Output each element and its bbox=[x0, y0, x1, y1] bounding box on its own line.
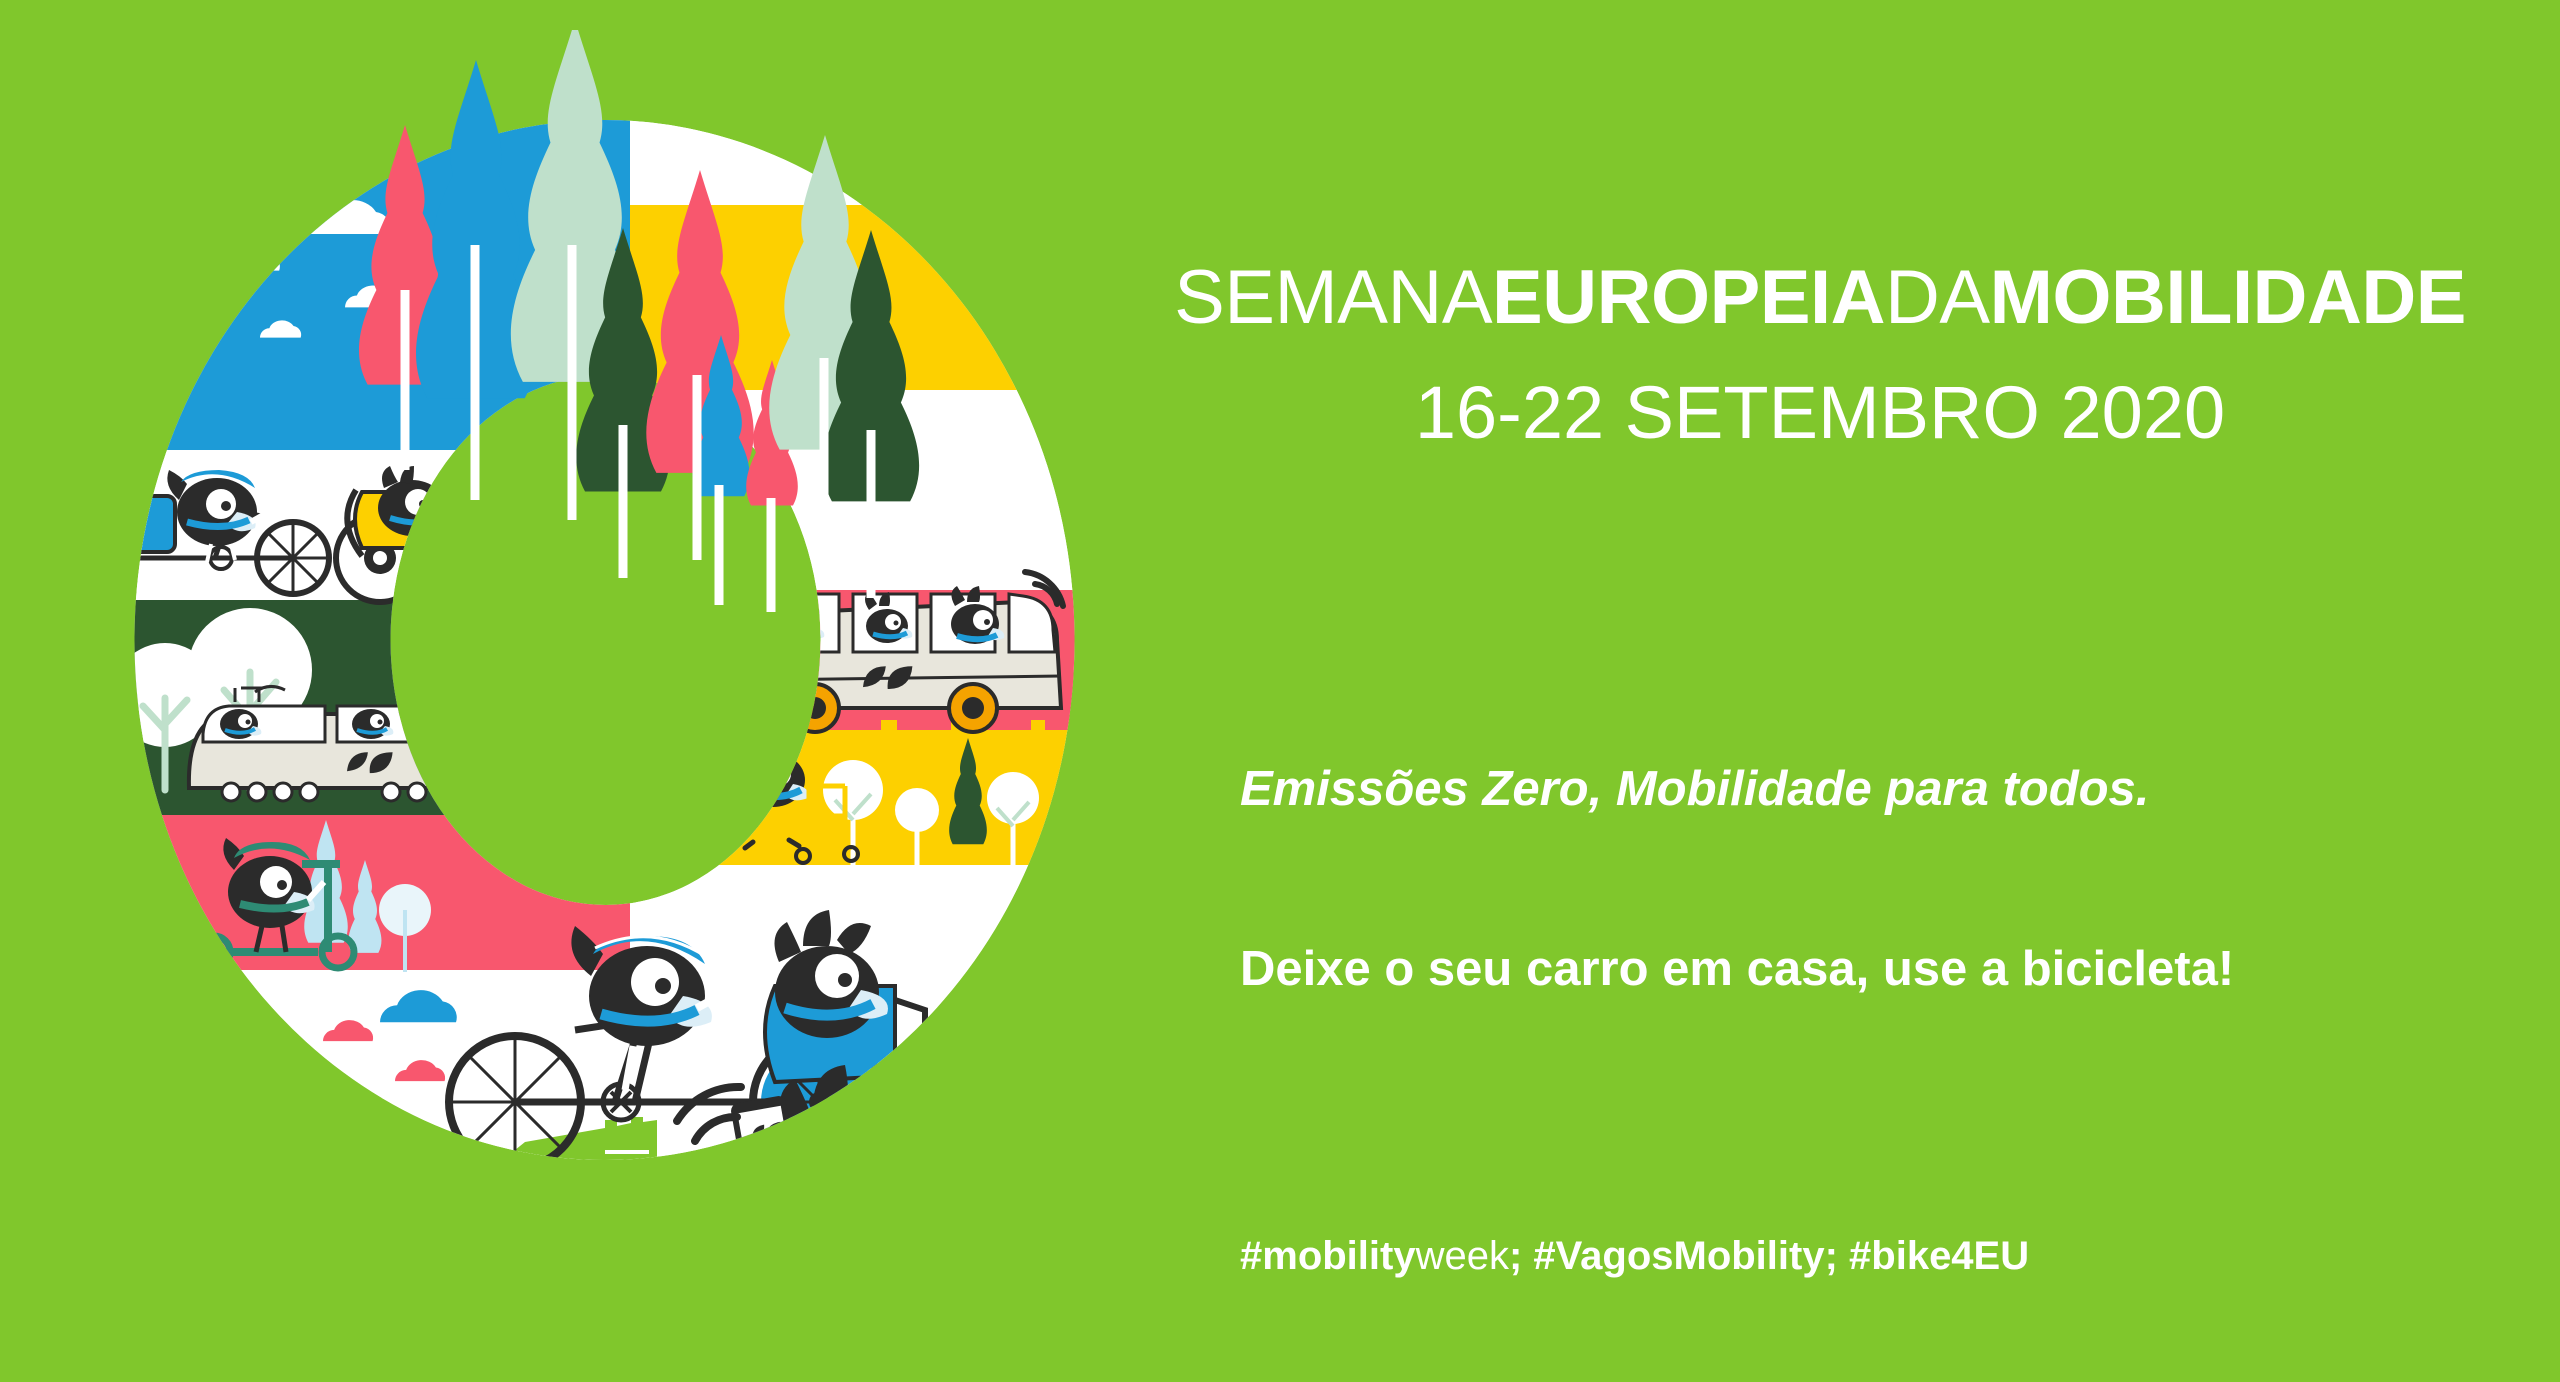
poster-canvas: SEMANAEUROPEIADAMOBILIDADE 16-22 SETEMBR… bbox=[0, 0, 2560, 1382]
text-column: SEMANAEUROPEIADAMOBILIDADE 16-22 SETEMBR… bbox=[1100, 0, 2540, 1382]
title-part-europeia: EUROPEIA bbox=[1492, 255, 1885, 340]
skyline-window-notches bbox=[605, 1150, 855, 1305]
title-part-mobilidade: MOBILIDADE bbox=[1990, 255, 2466, 340]
hashtag-rest: ; #VagosMobility; #bike4EU bbox=[1509, 1234, 2029, 1278]
page-title: SEMANAEUROPEIADAMOBILIDADE bbox=[1100, 255, 2540, 341]
slogan-secondary: Deixe o seu carro em casa, use a bicicle… bbox=[1240, 940, 2540, 998]
hashtag-line: #mobilityweek; #VagosMobility; #bike4EU bbox=[1240, 1232, 2540, 1280]
electric-bus-icon bbox=[757, 572, 1063, 732]
slogan-primary: Emissões Zero, Mobilidade para todos. bbox=[1240, 760, 2540, 818]
title-part-da: DA bbox=[1885, 255, 1990, 340]
hashtag-week: week bbox=[1416, 1234, 1509, 1278]
hashtag-mobility: #mobility bbox=[1240, 1234, 1416, 1278]
europeanmobilityweek-logo bbox=[45, 30, 1185, 1360]
title-part-semana: SEMANA bbox=[1174, 255, 1492, 340]
event-date: 16-22 SETEMBRO 2020 bbox=[1100, 370, 2540, 456]
city-skyline-icon bbox=[45, 1117, 1125, 1360]
